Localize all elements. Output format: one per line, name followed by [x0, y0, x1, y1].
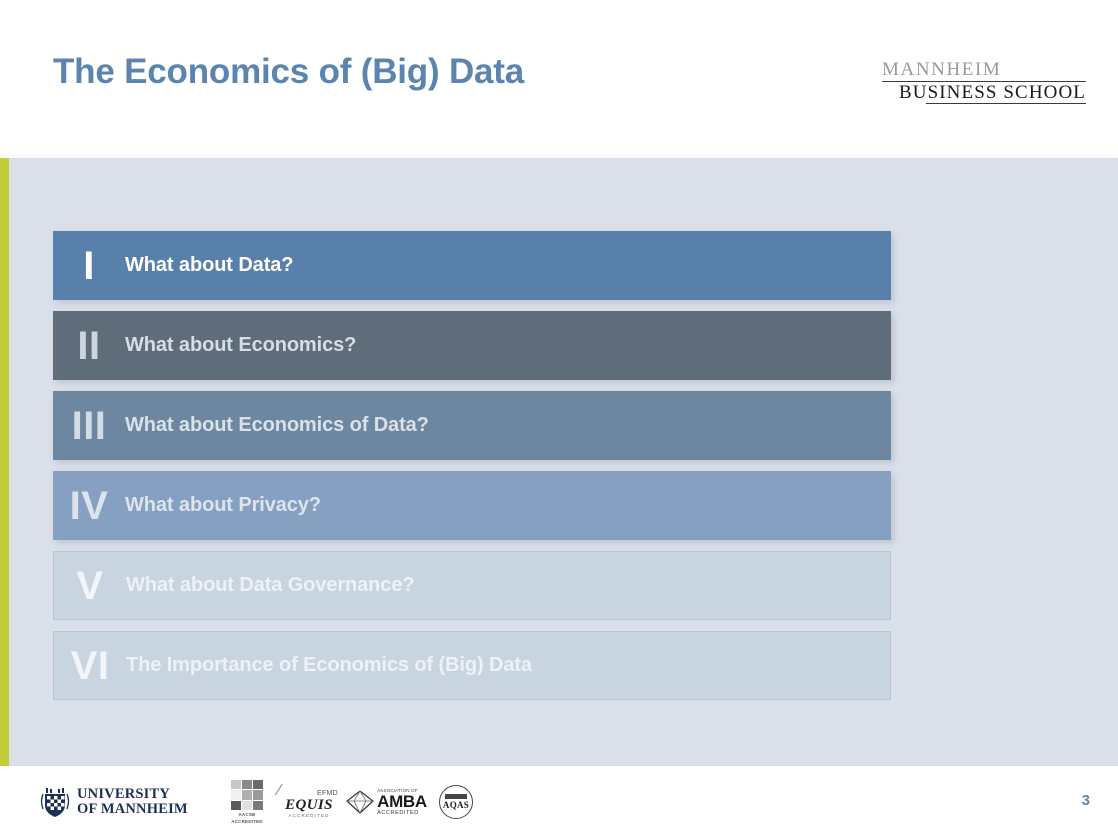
accent-stripe: [0, 158, 9, 766]
logo-line-mannheim: MANNHEIM: [882, 60, 1086, 80]
logo-line-business-school: BUSINESS SCHOOL: [882, 82, 1086, 104]
agenda-item-6[interactable]: VI The Importance of Economics of (Big) …: [53, 631, 891, 700]
agenda-label: What about Economics of Data?: [125, 414, 891, 437]
university-of-mannheim-logo: UNIVERSITY OF MANNHEIM: [38, 785, 218, 819]
agenda-label: What about Economics?: [125, 334, 891, 357]
agenda-numeral: VI: [54, 646, 126, 686]
agenda-item-5[interactable]: V What about Data Governance?: [53, 551, 891, 620]
agenda-numeral: V: [54, 566, 126, 606]
university-crest-icon: [38, 785, 72, 819]
agenda-numeral: I: [53, 246, 125, 286]
slide: The Economics of (Big) Data MANNHEIM BUS…: [0, 0, 1118, 838]
logo-rule-bottom: [926, 103, 1086, 104]
amba-diamond-icon: [345, 789, 375, 815]
agenda-item-4[interactable]: IV What about Privacy?: [53, 471, 891, 540]
page-number: 3: [1082, 792, 1090, 809]
agenda-item-3[interactable]: III What about Economics of Data?: [53, 391, 891, 460]
efmd-label: EFMD: [276, 790, 342, 797]
equis-accreditation-logo: ∕ EFMD EQUIS ACCREDITED: [276, 786, 342, 818]
mannheim-business-school-logo: MANNHEIM BUSINESS SCHOOL: [882, 60, 1086, 104]
aacsb-accreditation-logo: AACSB ACCREDITED: [218, 780, 276, 824]
footer-logo-row: UNIVERSITY OF MANNHEIM AACSB ACCREDITED …: [38, 780, 482, 824]
amba-text-block: ASSOCIATION OF AMBA ACCREDITED: [377, 788, 427, 817]
university-name-line2: OF MANNHEIM: [77, 802, 188, 817]
aqas-bar: [445, 794, 467, 799]
agenda-item-2[interactable]: II What about Economics?: [53, 311, 891, 380]
equis-label: EQUIS: [276, 797, 342, 813]
aqas-icon: AQAS: [439, 785, 473, 819]
content-panel: I What about Data? II What about Economi…: [0, 158, 1118, 766]
agenda-list: I What about Data? II What about Economi…: [53, 231, 891, 711]
aqas-accreditation-logo: AQAS: [430, 785, 482, 819]
university-name-line1: UNIVERSITY: [77, 787, 188, 802]
equis-subcaption: ACCREDITED: [276, 813, 342, 818]
agenda-label: The Importance of Economics of (Big) Dat…: [126, 654, 890, 677]
agenda-label: What about Data?: [125, 254, 891, 277]
agenda-numeral: II: [53, 326, 125, 366]
aacsb-subcaption: ACCREDITED: [218, 819, 276, 824]
agenda-label: What about Data Governance?: [126, 574, 890, 597]
page-title: The Economics of (Big) Data: [53, 52, 524, 92]
slide-footer: UNIVERSITY OF MANNHEIM AACSB ACCREDITED …: [0, 766, 1118, 838]
amba-label: AMBA: [377, 793, 427, 810]
agenda-label: What about Privacy?: [125, 494, 891, 517]
aacsb-icon: [231, 780, 263, 810]
amba-accreditation-logo: ASSOCIATION OF AMBA ACCREDITED: [342, 788, 430, 817]
agenda-item-1[interactable]: I What about Data?: [53, 231, 891, 300]
aacsb-caption: AACSB: [218, 812, 276, 817]
slide-header: The Economics of (Big) Data MANNHEIM BUS…: [0, 0, 1118, 158]
agenda-numeral: III: [53, 406, 125, 446]
university-name: UNIVERSITY OF MANNHEIM: [77, 787, 188, 817]
aqas-label: AQAS: [443, 800, 469, 810]
agenda-numeral: IV: [53, 486, 125, 526]
amba-subcaption: ACCREDITED: [377, 810, 427, 817]
